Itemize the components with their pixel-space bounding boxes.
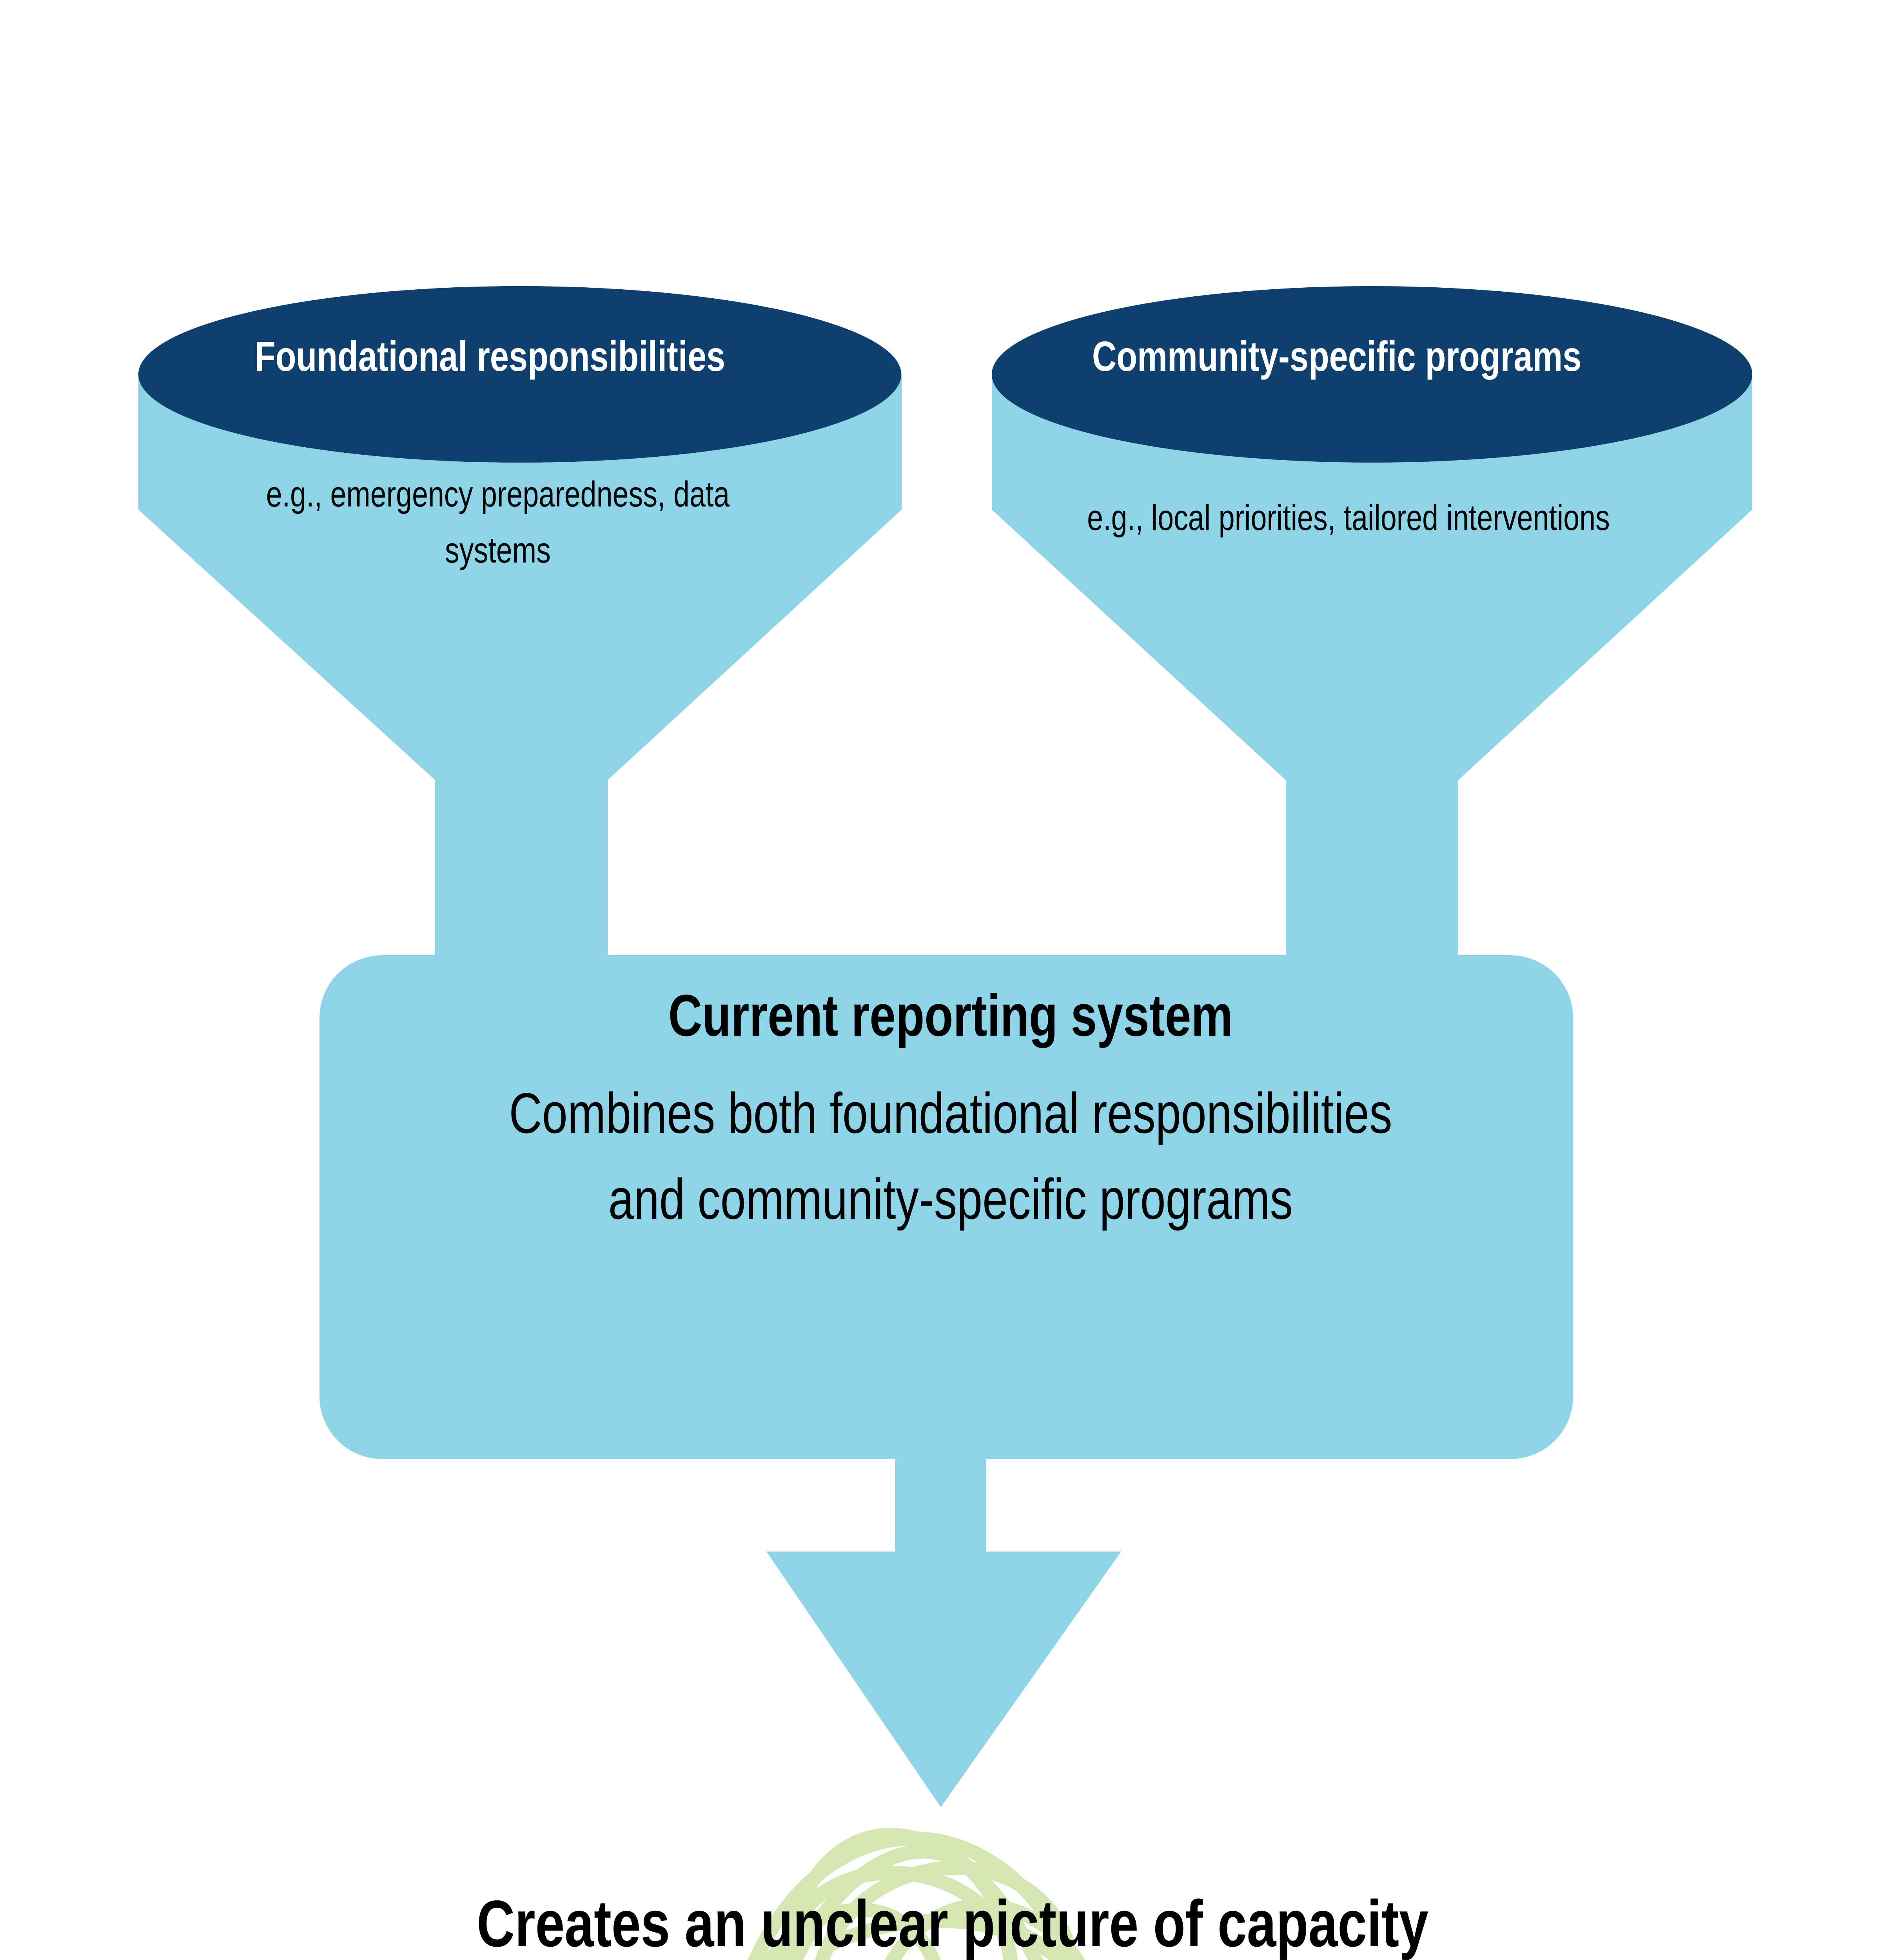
diagram-canvas: Foundational responsibilities e.g., emer… <box>0 0 1893 1960</box>
funnel-foundational-subtitle: e.g., emergency preparedness, data syste… <box>231 466 764 578</box>
outcome-statement: Creates an unclear picture of capacity a… <box>473 1874 1432 1960</box>
current-system-body: Combines both foundational responsibilit… <box>472 1070 1429 1242</box>
funnel-foundational <box>138 286 902 980</box>
downward-arrow-icon <box>766 1450 1121 1807</box>
funnel-foundational-title: Foundational responsibilities <box>192 333 788 380</box>
funnel-community-title: Community-specific programs <box>1033 333 1641 380</box>
funnel-community-subtitle: e.g., local priorities, tailored interve… <box>1073 490 1624 546</box>
current-system-title: Current reporting system <box>472 980 1429 1051</box>
funnel-foundational-stem-fillet-left <box>435 737 521 980</box>
funnel-community <box>992 286 1752 980</box>
funnel-community-stem-fillet-left <box>1286 737 1372 980</box>
